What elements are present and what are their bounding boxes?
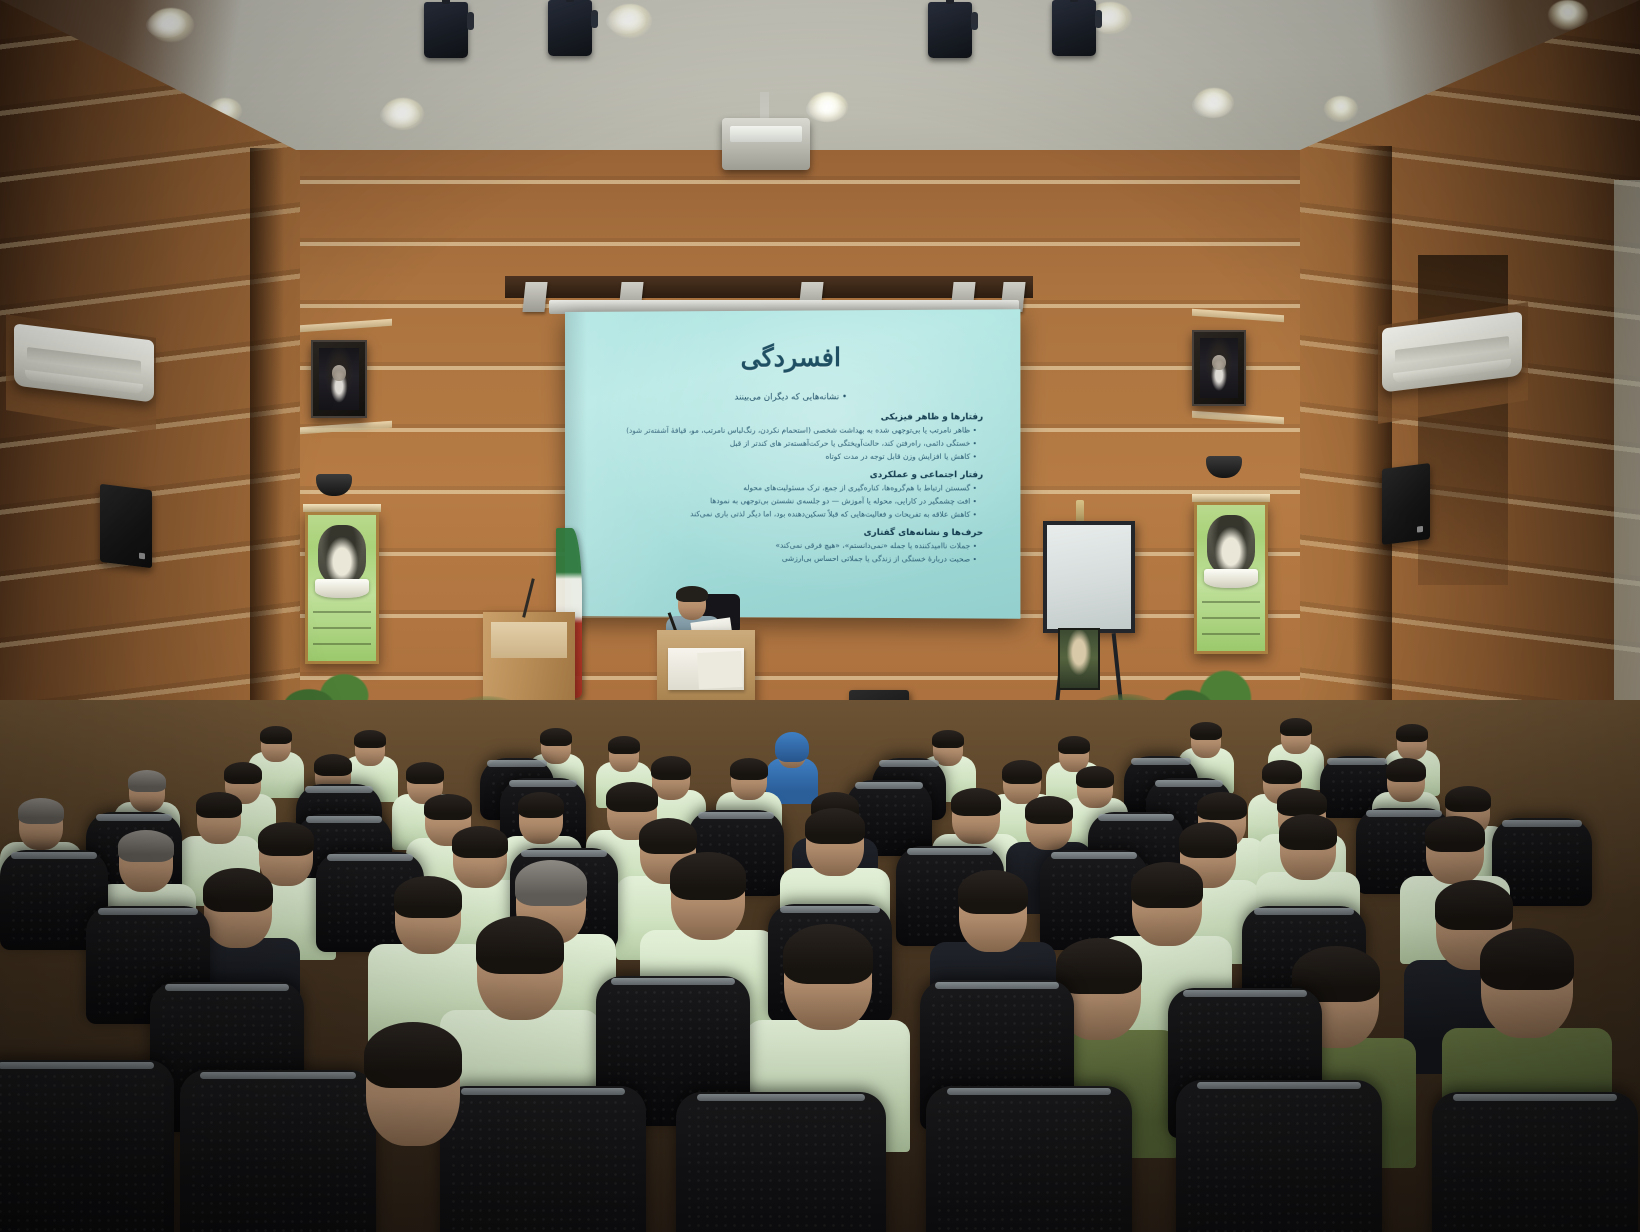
- attendee-hair: [196, 792, 242, 818]
- attendee-hair: [1025, 796, 1073, 824]
- slide-section-heading: رفتارها و ظاهر فیزیکی: [585, 412, 994, 423]
- lecture-hall-photo: افسردگی • نشانه‌هایی که دیگران می‌بینند …: [0, 0, 1640, 1232]
- attendee-hair: [1386, 758, 1426, 782]
- seat-bar: [327, 854, 413, 861]
- attendee-hair: [1058, 736, 1090, 754]
- seat-bar: [509, 780, 578, 787]
- downlight-icon: [1192, 92, 1232, 118]
- seat-mesh: [935, 1098, 1123, 1232]
- framed-portrait-khomeini: [311, 340, 367, 418]
- attendee-hair: [1280, 718, 1312, 736]
- attendee-hair: [1425, 816, 1485, 852]
- attendee-hair: [730, 758, 768, 780]
- slide-bullet: • افت چشمگیر در کارایی، محوله یا آموزش —…: [585, 496, 994, 508]
- attendee-hair: [18, 798, 64, 824]
- attendee-hair: [805, 808, 865, 844]
- stage-spotlight-icon: [548, 0, 592, 56]
- attendee-hair: [608, 736, 640, 754]
- ac-louver: [27, 347, 142, 375]
- framed-photo-on-stand: [1058, 628, 1100, 690]
- seat-bar: [487, 760, 546, 767]
- slide-bullet: • ظاهر نامرتب یا بی‌توجهی شده به بهداشت …: [585, 425, 994, 437]
- seat-bar: [0, 1062, 154, 1069]
- auditorium-seat[interactable]: [1432, 1092, 1638, 1232]
- seat-mesh: [1441, 1104, 1629, 1232]
- banner-top-rail: [303, 504, 381, 512]
- slide-bullet: • صحبت دربارهٔ خستگی از زندگی یا جملاتی …: [585, 553, 994, 566]
- slide-subtitle: • نشانه‌هایی که دیگران می‌بینند: [585, 392, 1000, 403]
- banner-portrait-icon: [1207, 515, 1256, 573]
- attendee: [328, 1022, 498, 1152]
- attendee-hair: [515, 860, 587, 906]
- attendee-hair: [1197, 792, 1247, 820]
- auditorium-seat[interactable]: [1176, 1080, 1382, 1232]
- auditorium-seat[interactable]: [926, 1086, 1132, 1232]
- auditorium-seat[interactable]: [676, 1092, 886, 1232]
- audience-area: [0, 700, 1640, 1232]
- attendee-hair: [476, 916, 564, 974]
- slide-body: رفتارها و ظاهر فیزیکی • ظاهر نامرتب یا ب…: [585, 412, 1000, 565]
- attendee-hair: [606, 782, 658, 812]
- downlight-icon: [1548, 0, 1588, 30]
- slide-bullet: • گسستن ارتباط با هم‌گروه‌ها، کناره‌گیری…: [585, 483, 994, 494]
- seat-bar: [1131, 758, 1190, 765]
- seat-mesh: [0, 1072, 165, 1232]
- attendee-hair: [1056, 938, 1142, 994]
- seat-bar: [1254, 908, 1353, 915]
- attendee-hair: [406, 762, 444, 784]
- presentation-slide: افسردگی • نشانه‌هایی که دیگران می‌بینند …: [565, 309, 1020, 619]
- downlight-icon: [806, 96, 846, 122]
- wall-banner-right: [1194, 502, 1268, 654]
- slide-title: افسردگی: [585, 342, 1000, 373]
- downlight-icon: [606, 8, 646, 34]
- slide-section-heading: حرف‌ها و نشانه‌های گفتاری: [585, 527, 994, 538]
- wall-speaker-icon: [1382, 463, 1430, 545]
- portrait-image: [1200, 338, 1238, 398]
- seat-bar: [1098, 814, 1175, 821]
- attendee-hair: [424, 794, 472, 820]
- seat-bar: [947, 1088, 1112, 1095]
- slide-bullet: • کاهش یا افزایش وزن قابل توجه در مدت کو…: [585, 452, 994, 463]
- wall-edge-highlight: [1614, 180, 1640, 740]
- attendee-hair: [1002, 760, 1042, 784]
- attendee-hair: [540, 728, 572, 746]
- projector-lens: [730, 126, 802, 142]
- portrait-image: [319, 348, 359, 410]
- attendee-hair: [224, 762, 262, 784]
- attendee-hair: [639, 818, 697, 854]
- seat-bar: [305, 786, 374, 793]
- wall-banner-left: [305, 512, 379, 664]
- auditorium-seat[interactable]: [0, 1060, 174, 1232]
- seat-bar: [1155, 780, 1224, 787]
- attendee-hair: [118, 830, 174, 862]
- downlight-icon: [146, 12, 186, 38]
- table-papers: [668, 648, 744, 690]
- banner-top-rail: [1192, 494, 1270, 502]
- attendee-hair: [1131, 862, 1203, 908]
- seat-bar: [1502, 820, 1582, 827]
- banner-book-icon: [1204, 569, 1258, 588]
- seat-bar: [1453, 1094, 1618, 1101]
- attendee-hair: [452, 826, 508, 858]
- framed-portrait-khamenei: [1192, 330, 1246, 406]
- attendee-hair: [651, 756, 691, 780]
- attendee-hair: [1396, 724, 1428, 742]
- ac-louver: [1395, 336, 1510, 364]
- attendee-hair: [1190, 722, 1222, 740]
- attendee-hair: [783, 924, 873, 984]
- seat-bar: [780, 906, 879, 913]
- banner-book-icon: [315, 579, 369, 598]
- projection-screen: افسردگی • نشانه‌هایی که دیگران می‌بینند …: [565, 309, 1020, 619]
- attendee-hair: [1277, 788, 1327, 816]
- attendee-hair: [932, 730, 964, 748]
- attendee-hair: [258, 822, 314, 856]
- banner-text-lines: [313, 604, 370, 654]
- attendee-hair: [518, 792, 564, 818]
- attendee-hair: [670, 852, 746, 900]
- seat-mesh: [685, 1104, 877, 1232]
- attendee-hair: [1179, 822, 1237, 858]
- seat-bar: [1051, 852, 1137, 859]
- attendee-hair: [1279, 814, 1337, 850]
- whiteboard: [1043, 521, 1135, 633]
- seat-mesh: [1185, 1092, 1373, 1232]
- slide-bullet: • جملات ناامیدکننده یا جمله «نمی‌دانستم»…: [585, 540, 994, 552]
- seat-bar: [907, 848, 993, 855]
- seat-bar: [1183, 990, 1306, 997]
- attendee-hair: [260, 726, 292, 744]
- seat-bar: [935, 982, 1058, 989]
- podium-panel: [491, 622, 567, 658]
- banner-portrait-icon: [318, 525, 367, 583]
- attendee-hair: [1435, 880, 1513, 930]
- stage-spotlight-icon: [1052, 0, 1096, 56]
- attendee-hair: [394, 876, 462, 918]
- downlight-icon: [1324, 96, 1358, 122]
- seat-bar: [98, 908, 197, 915]
- downlight-icon: [380, 102, 420, 128]
- wall-speaker-icon: [100, 484, 152, 568]
- presenter-hair: [676, 586, 708, 602]
- screen-bracket: [522, 282, 547, 312]
- attendee-hair: [314, 754, 352, 776]
- attendee-hair: [1445, 786, 1491, 812]
- seat-bar: [96, 814, 173, 821]
- seat-bar: [1197, 1082, 1362, 1089]
- seat-bar: [611, 978, 734, 985]
- doorway[interactable]: [1418, 255, 1508, 585]
- attendee-hair: [354, 730, 386, 748]
- slide-section-heading: رفتار اجتماعی و عملکردی: [585, 470, 994, 480]
- attendee-hair: [1076, 766, 1114, 788]
- projector-icon: [722, 118, 810, 170]
- slide-bullet: • کاهش علاقه به تفریحات و فعالیت‌هایی که…: [585, 509, 994, 521]
- stage-spotlight-icon: [928, 2, 972, 58]
- attendee-hair: [203, 868, 273, 912]
- seat-bar: [697, 1094, 865, 1101]
- seat-bar: [165, 984, 288, 991]
- seat-bar: [855, 782, 924, 789]
- stage-spotlight-icon: [424, 2, 468, 58]
- attendee-hair: [364, 1022, 462, 1088]
- slide-bullet: • خستگی دائمی، راه‌رفتن کند، حالت‌آویختگ…: [585, 439, 994, 450]
- attendee-hair: [128, 770, 166, 792]
- attendee-hair: [958, 870, 1028, 914]
- seat-bar: [521, 850, 607, 857]
- attendee-hair: [951, 788, 1001, 816]
- attendee-hair: [1480, 928, 1574, 990]
- attendee-hair: [1262, 760, 1302, 784]
- seat-bar: [879, 760, 938, 767]
- seat-bar: [11, 852, 97, 859]
- banner-text-lines: [1202, 594, 1259, 644]
